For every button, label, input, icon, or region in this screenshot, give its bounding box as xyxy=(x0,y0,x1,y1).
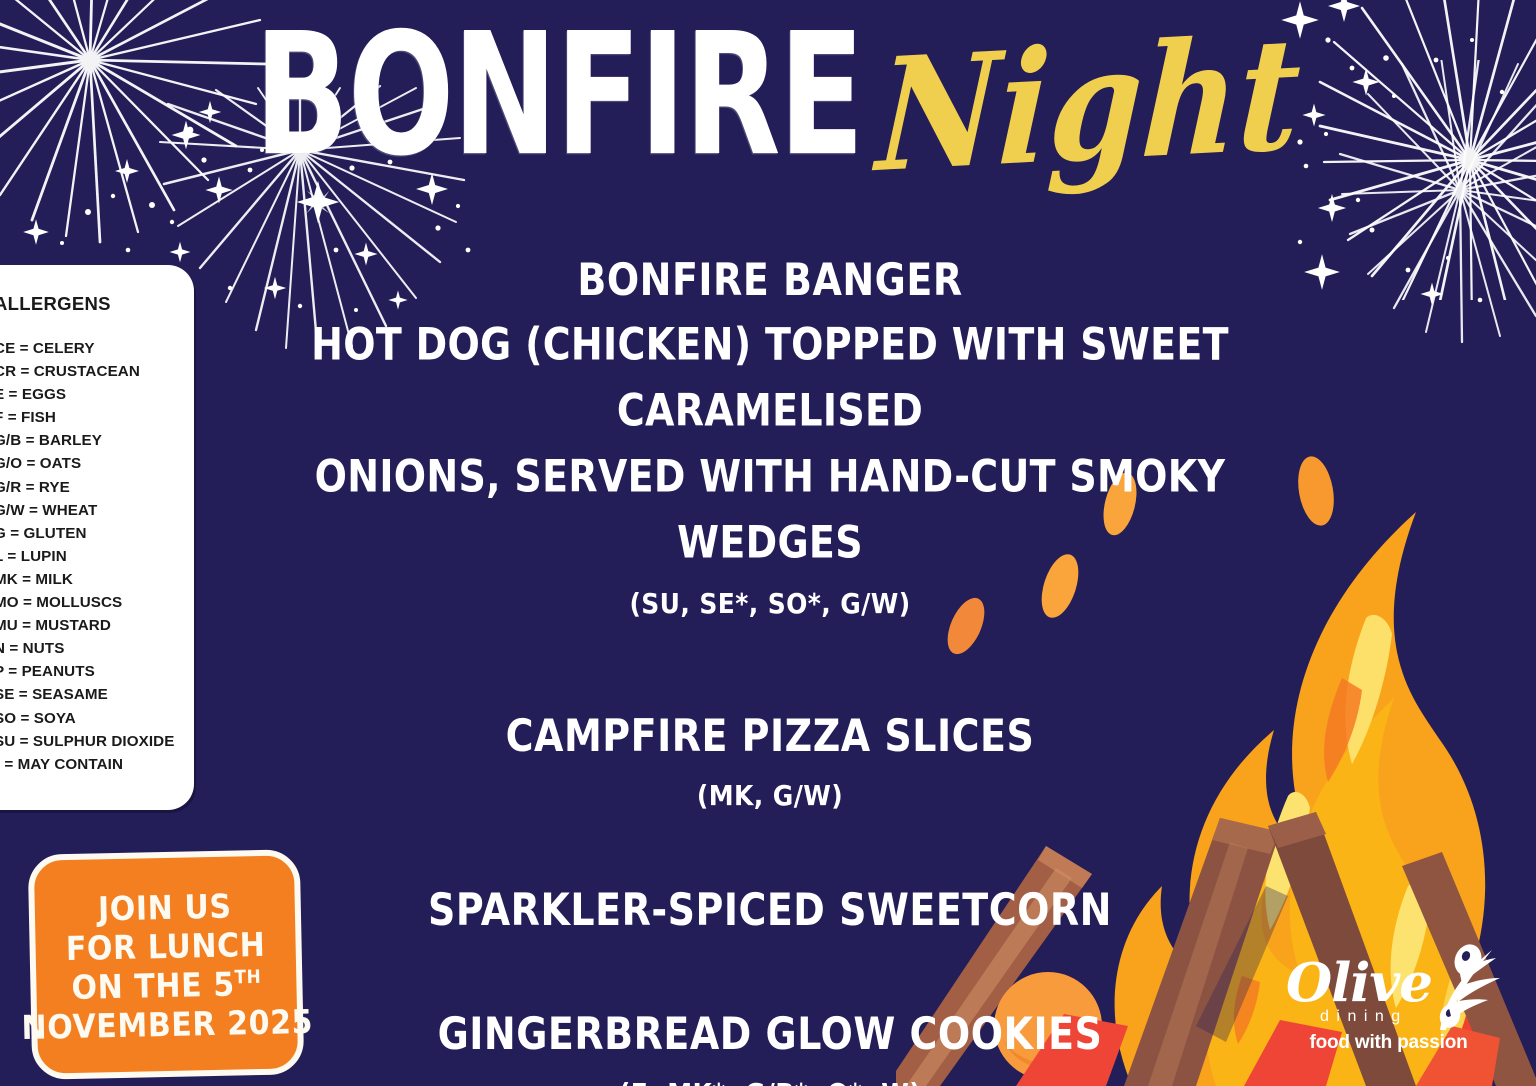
allergen-item: P = PEANUTS xyxy=(0,660,194,683)
allergen-item: F = FISH xyxy=(0,406,194,429)
allergen-item: * = MAY CONTAIN xyxy=(0,753,194,776)
allergen-item: G/R = RYE xyxy=(0,476,194,499)
logo-sub-text: dining xyxy=(1320,1008,1408,1026)
olive-branch-icon xyxy=(1426,942,1512,1034)
menu-item-description-line2: ONIONS, SERVED WITH HAND-CUT SMOKY WEDGE… xyxy=(230,444,1310,576)
allergen-list: CE = CELERY CR = CRUSTACEAN E = EGGS F =… xyxy=(0,337,194,776)
allergen-item: MO = MOLLUSCS xyxy=(0,591,194,614)
title-bonfire-text: BONFIRE xyxy=(254,11,868,180)
menu-item-name: BONFIRE BANGER xyxy=(230,254,1310,306)
menu-item-gingerbread-cookies: GINGERBREAD GLOW COOKIES (E, MK*, G/B*, … xyxy=(230,1012,1310,1086)
allergen-card: ALLERGENS CE = CELERY CR = CRUSTACEAN E … xyxy=(0,265,194,810)
menu-item-allergens: (MK, G/W) xyxy=(230,779,1310,811)
poster-title: BONFIRE Night xyxy=(0,14,1536,214)
allergen-item: MU = MUSTARD xyxy=(0,614,194,637)
bonfire-night-poster: BONFIRE Night ALLERGENS CE = CELERY CR =… xyxy=(0,0,1536,1086)
allergen-item: SO = SOYA xyxy=(0,707,194,730)
menu-item-allergens: (SU, SE*, SO*, G/W) xyxy=(230,587,1310,619)
menu-item-name: CAMPFIRE PIZZA SLICES xyxy=(230,710,1310,762)
menu-item-allergens: (E, MK*, G/B*, O*, W) xyxy=(230,1078,1310,1086)
allergen-item: G/B = BARLEY xyxy=(0,429,194,452)
badge-date-ordinal: TH xyxy=(234,965,261,988)
badge-line-4: NOVEMBER 2025 xyxy=(21,1000,313,1049)
join-us-badge: JOIN US FOR LUNCH ON THE 5TH NOVEMBER 20… xyxy=(28,849,305,1080)
badge-date-prefix: ON THE 5 xyxy=(71,965,235,1007)
badge-line-1: JOIN US xyxy=(98,885,232,931)
olive-dining-logo: Olive dining food with passion xyxy=(1286,952,1508,1064)
allergen-heading: ALLERGENS xyxy=(0,293,194,315)
menu-item-campfire-pizza: CAMPFIRE PIZZA SLICES (MK, G/W) xyxy=(230,714,1310,810)
allergen-item: E = EGGS xyxy=(0,383,194,406)
menu-item-description-line1: HOT DOG (CHICKEN) TOPPED WITH SWEET CARA… xyxy=(230,312,1310,444)
menu-item-name: GINGERBREAD GLOW COOKIES xyxy=(230,1009,1310,1061)
allergen-item: G = GLUTEN xyxy=(0,522,194,545)
logo-brand-text: Olive xyxy=(1286,952,1432,1014)
allergen-item: N = NUTS xyxy=(0,637,194,660)
allergen-item: G/W = WHEAT xyxy=(0,499,194,522)
allergen-item: CE = CELERY xyxy=(0,337,194,360)
allergen-item: L = LUPIN xyxy=(0,545,194,568)
menu-item-bonfire-banger: BONFIRE BANGER HOT DOG (CHICKEN) TOPPED … xyxy=(230,258,1310,618)
title-night-script: Night xyxy=(874,17,1304,195)
allergen-item: SU = SULPHUR DIOXIDE xyxy=(0,730,194,753)
menu-item-name: SPARKLER-SPICED SWEETCORN xyxy=(230,884,1310,936)
allergen-item: CR = CRUSTACEAN xyxy=(0,360,194,383)
allergen-item: SE = SEASAME xyxy=(0,683,194,706)
menu-list: BONFIRE BANGER HOT DOG (CHICKEN) TOPPED … xyxy=(230,258,1310,1086)
logo-tagline: food with passion xyxy=(1286,1032,1491,1054)
menu-item-sparkler-sweetcorn: SPARKLER-SPICED SWEETCORN xyxy=(230,888,1310,933)
allergen-item: MK = MILK xyxy=(0,568,194,591)
allergen-item: G/O = OATS xyxy=(0,452,194,475)
